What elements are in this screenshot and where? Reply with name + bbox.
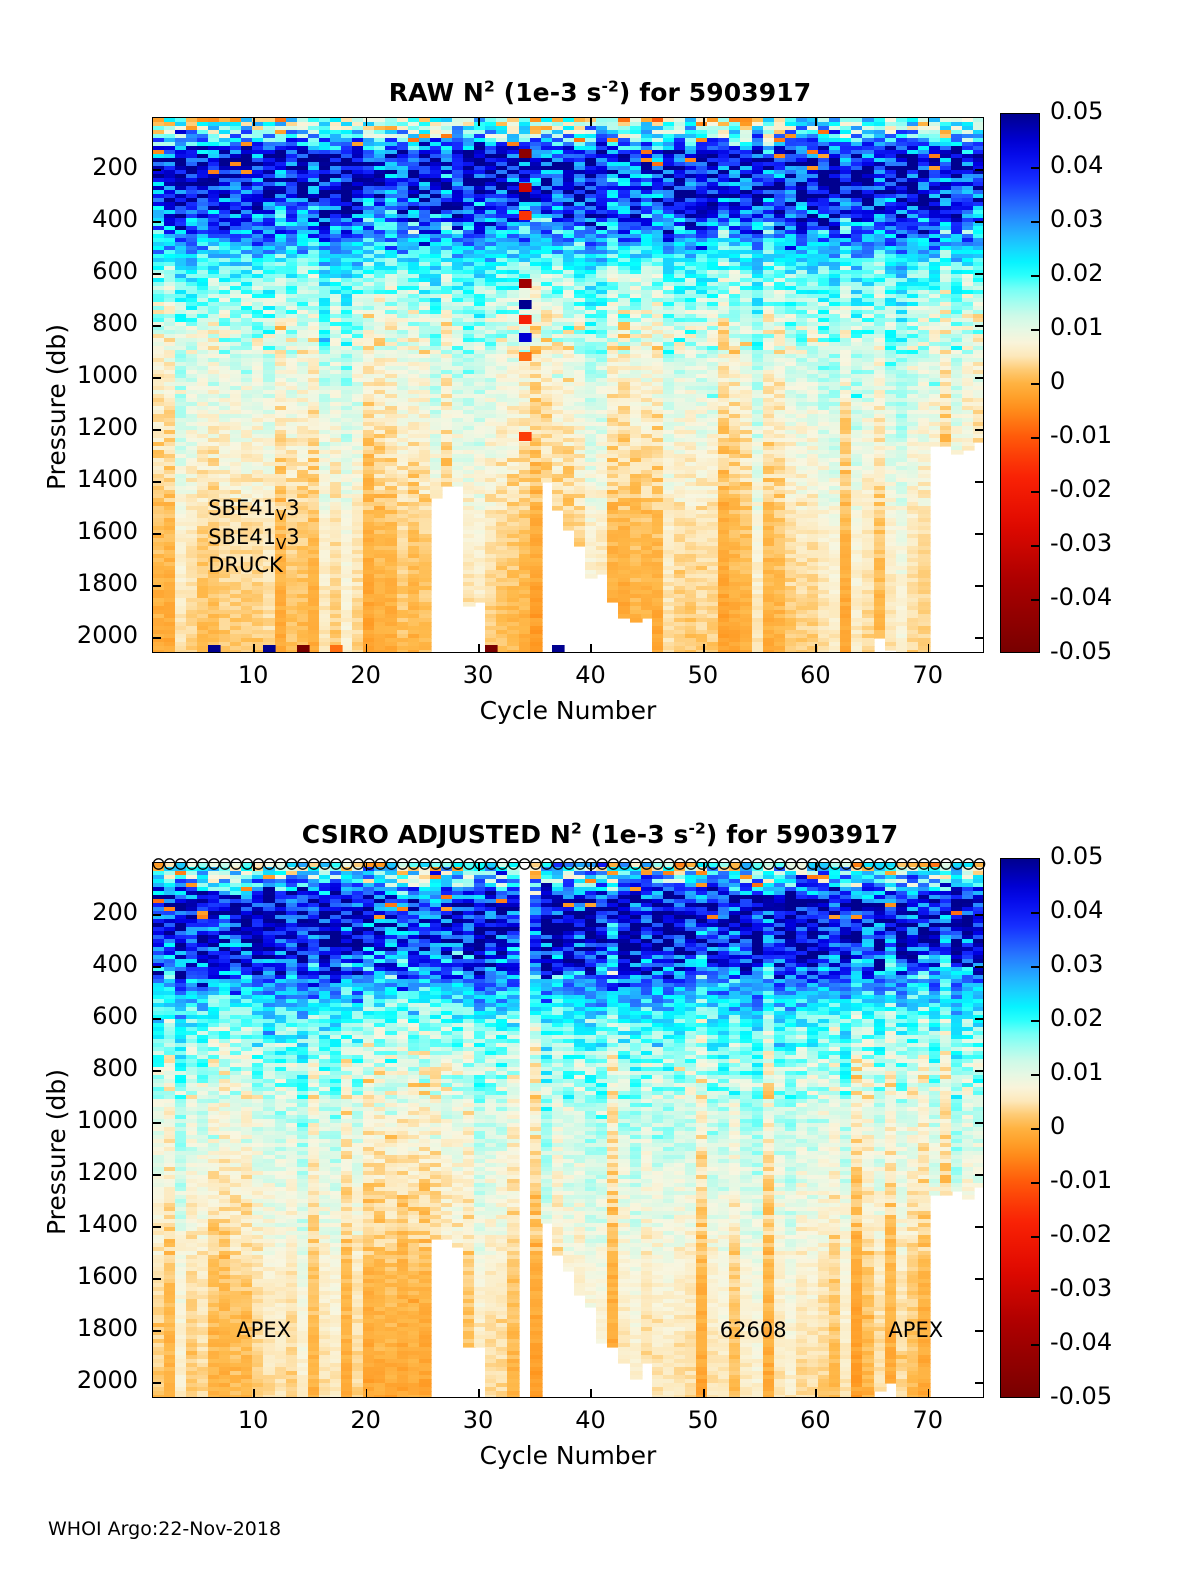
colorbar-tick-mark: [1031, 1182, 1040, 1184]
x-tick-mark: [928, 644, 930, 653]
x-tick-label-adjusted-30: 30: [438, 1406, 518, 1434]
y-tick-label-raw-1400: 1400: [0, 465, 138, 493]
colorbar-tick-label-raw-0: 0.05: [1050, 97, 1103, 125]
y-tick-label-adjusted-400: 400: [0, 950, 138, 978]
colorbar-tick-label-adjusted-3: 0.02: [1050, 1004, 1103, 1032]
x-tick-label-adjusted-70: 70: [888, 1406, 968, 1434]
y-tick-mark: [152, 377, 161, 379]
y-tick-mark: [152, 1070, 161, 1072]
panel-adjusted-title-exponent-2: -2: [688, 820, 705, 838]
x-tick-mark: [590, 862, 592, 871]
x-tick-label-raw-70: 70: [888, 661, 968, 689]
x-tick-label-raw-30: 30: [438, 661, 518, 689]
colorbar-tick-label-adjusted-1: 0.04: [1050, 896, 1103, 924]
colorbar-tick-label-adjusted-0: 0.05: [1050, 842, 1103, 870]
y-tick-mark: [152, 637, 161, 639]
x-tick-mark: [253, 117, 255, 126]
colorbar-tick-label-raw-7: -0.02: [1050, 475, 1112, 503]
y-tick-mark: [152, 585, 161, 587]
colorbar-tick-mark: [1031, 1020, 1040, 1022]
colorbar-tick-label-raw-6: -0.01: [1050, 421, 1112, 449]
colorbar-tick-label-adjusted-2: 0.03: [1050, 950, 1103, 978]
y-tick-mark: [152, 1174, 161, 1176]
x-tick-mark: [590, 644, 592, 653]
x-tick-mark: [478, 862, 480, 871]
y-tick-label-adjusted-1400: 1400: [0, 1210, 138, 1238]
colorbar-tick-label-adjusted-5: 0: [1050, 1112, 1065, 1140]
colorbar-tick-label-adjusted-9: -0.04: [1050, 1328, 1112, 1356]
y-tick-label-raw-400: 400: [0, 205, 138, 233]
colorbar-tick-label-adjusted-6: -0.01: [1050, 1166, 1112, 1194]
x-tick-mark: [366, 644, 368, 653]
panel-raw-title-exponent-1: 2: [484, 78, 495, 96]
panel-adjusted-title-mid: (1e-3 s: [582, 820, 689, 849]
y-tick-mark: [975, 221, 984, 223]
colorbar-tick-mark: [1031, 1344, 1040, 1346]
x-tick-mark: [253, 644, 255, 653]
panel-adjusted-title-prefix: CSIRO ADJUSTED N: [302, 820, 571, 849]
colorbar-tick-label-raw-3: 0.02: [1050, 259, 1103, 287]
annotation-adjusted-0: APEX: [236, 1318, 291, 1342]
x-tick-mark: [815, 644, 817, 653]
y-tick-mark: [152, 1330, 161, 1332]
y-tick-label-raw-1600: 1600: [0, 517, 138, 545]
y-tick-label-raw-200: 200: [0, 153, 138, 181]
colorbar-tick-mark: [1031, 1290, 1040, 1292]
y-tick-mark: [152, 481, 161, 483]
y-tick-mark: [975, 169, 984, 171]
colorbar-tick-label-raw-8: -0.03: [1050, 529, 1112, 557]
y-tick-label-raw-2000: 2000: [0, 621, 138, 649]
y-tick-mark: [152, 169, 161, 171]
colorbar-tick-mark: [1031, 275, 1040, 277]
colorbar-tick-label-raw-9: -0.04: [1050, 583, 1112, 611]
x-tick-label-raw-40: 40: [550, 661, 630, 689]
annotation-text: SBE41: [208, 525, 276, 549]
panel-raw-title-prefix: RAW N: [389, 78, 484, 107]
panel-raw-title-suffix: ) for 5903917: [619, 78, 811, 107]
y-tick-label-raw-1000: 1000: [0, 361, 138, 389]
x-tick-mark: [703, 1389, 705, 1398]
y-tick-label-adjusted-600: 600: [0, 1002, 138, 1030]
y-tick-label-raw-1200: 1200: [0, 413, 138, 441]
colorbar-tick-mark: [1031, 1236, 1040, 1238]
footer-credit: WHOI Argo:22-Nov-2018: [48, 1518, 281, 1540]
annotation-subscript: V: [276, 506, 286, 524]
x-tick-mark: [928, 1389, 930, 1398]
y-tick-mark: [975, 481, 984, 483]
panel-raw-title-mid: (1e-3 s: [495, 78, 602, 107]
y-tick-mark: [152, 273, 161, 275]
annotation-raw-1: SBE41V3: [208, 525, 299, 549]
colorbar-tick-mark: [1031, 221, 1040, 223]
panel-raw-title-exponent-2: -2: [602, 78, 619, 96]
panel-adjusted-title-suffix: ) for 5903917: [706, 820, 898, 849]
annotation-subscript: V: [276, 535, 286, 553]
y-tick-mark: [152, 966, 161, 968]
colorbar-tick-label-adjusted-10: -0.05: [1050, 1382, 1112, 1410]
y-tick-mark: [975, 273, 984, 275]
y-tick-label-adjusted-2000: 2000: [0, 1366, 138, 1394]
x-tick-label-raw-50: 50: [663, 661, 743, 689]
x-tick-mark: [478, 644, 480, 653]
panel-raw-title: RAW N2 (1e-3 s-2) for 5903917: [0, 78, 1200, 107]
y-tick-mark: [975, 1278, 984, 1280]
annotation-raw-0: SBE41V3: [208, 496, 299, 520]
x-tick-mark: [815, 862, 817, 871]
x-tick-mark: [703, 862, 705, 871]
annotation-adjusted-1: 62608: [720, 1318, 787, 1342]
annotation-text: APEX: [888, 1318, 943, 1342]
x-tick-mark: [253, 1389, 255, 1398]
colorbar-tick-label-adjusted-7: -0.02: [1050, 1220, 1112, 1248]
y-tick-label-raw-1800: 1800: [0, 569, 138, 597]
colorbar-tick-mark: [1031, 491, 1040, 493]
y-tick-mark: [975, 377, 984, 379]
x-tick-label-adjusted-20: 20: [326, 1406, 406, 1434]
adjusted-x-axis-label: Cycle Number: [152, 1441, 984, 1470]
y-tick-label-adjusted-1600: 1600: [0, 1262, 138, 1290]
x-tick-mark: [478, 1389, 480, 1398]
colorbar-tick-label-adjusted-4: 0.01: [1050, 1058, 1103, 1086]
x-tick-mark: [703, 644, 705, 653]
y-tick-mark: [975, 637, 984, 639]
y-tick-mark: [152, 1018, 161, 1020]
y-tick-mark: [975, 533, 984, 535]
y-tick-mark: [152, 221, 161, 223]
colorbar-tick-label-raw-1: 0.04: [1050, 151, 1103, 179]
colorbar-tick-mark: [1031, 437, 1040, 439]
x-tick-label-raw-10: 10: [213, 661, 293, 689]
panel-adjusted-title: CSIRO ADJUSTED N2 (1e-3 s-2) for 5903917: [0, 820, 1200, 849]
x-tick-mark: [253, 862, 255, 871]
annotation-adjusted-2: APEX: [888, 1318, 943, 1342]
y-tick-mark: [152, 325, 161, 327]
colorbar-tick-mark: [1031, 1074, 1040, 1076]
x-tick-label-raw-60: 60: [775, 661, 855, 689]
y-tick-label-adjusted-1200: 1200: [0, 1158, 138, 1186]
y-tick-mark: [975, 966, 984, 968]
x-tick-mark: [815, 117, 817, 126]
y-tick-mark: [152, 1226, 161, 1228]
annotation-text: 62608: [720, 1318, 787, 1342]
x-tick-mark: [928, 862, 930, 871]
colorbar-tick-label-adjusted-8: -0.03: [1050, 1274, 1112, 1302]
y-tick-mark: [975, 1122, 984, 1124]
colorbar-tick-mark: [1031, 383, 1040, 385]
y-tick-mark: [975, 325, 984, 327]
y-tick-mark: [975, 1382, 984, 1384]
annotation-raw-2: DRUCK: [208, 553, 283, 577]
y-tick-mark: [975, 1018, 984, 1020]
x-tick-mark: [703, 117, 705, 126]
y-tick-mark: [152, 914, 161, 916]
x-tick-label-adjusted-60: 60: [775, 1406, 855, 1434]
y-tick-label-adjusted-200: 200: [0, 898, 138, 926]
y-tick-mark: [152, 1122, 161, 1124]
x-tick-label-adjusted-50: 50: [663, 1406, 743, 1434]
x-tick-mark: [366, 862, 368, 871]
colorbar-tick-label-raw-4: 0.01: [1050, 313, 1103, 341]
colorbar-tick-label-raw-5: 0: [1050, 367, 1065, 395]
y-tick-mark: [152, 533, 161, 535]
annotation-text-post: 3: [286, 496, 299, 520]
y-tick-mark: [152, 429, 161, 431]
x-tick-label-adjusted-10: 10: [213, 1406, 293, 1434]
y-tick-mark: [975, 1226, 984, 1228]
raw-x-axis-label: Cycle Number: [152, 696, 984, 725]
x-tick-mark: [590, 117, 592, 126]
y-tick-mark: [975, 914, 984, 916]
y-tick-mark: [975, 585, 984, 587]
colorbar-tick-mark: [1031, 599, 1040, 601]
x-tick-mark: [366, 117, 368, 126]
annotation-text-post: 3: [286, 525, 299, 549]
x-tick-mark: [590, 1389, 592, 1398]
y-tick-label-raw-600: 600: [0, 257, 138, 285]
y-tick-label-adjusted-800: 800: [0, 1054, 138, 1082]
colorbar-tick-mark: [1031, 966, 1040, 968]
colorbar-tick-mark: [1031, 1128, 1040, 1130]
x-tick-mark: [928, 117, 930, 126]
colorbar-tick-mark: [1031, 545, 1040, 547]
x-tick-label-adjusted-40: 40: [550, 1406, 630, 1434]
colorbar-tick-mark: [1031, 167, 1040, 169]
y-tick-mark: [975, 1070, 984, 1072]
colorbar-tick-label-raw-2: 0.03: [1050, 205, 1103, 233]
panel-adjusted-title-exponent-1: 2: [571, 820, 582, 838]
x-tick-mark: [366, 1389, 368, 1398]
y-tick-mark: [152, 1278, 161, 1280]
x-tick-mark: [478, 117, 480, 126]
annotation-text: DRUCK: [208, 553, 283, 577]
colorbar-tick-mark: [1031, 329, 1040, 331]
y-tick-label-adjusted-1000: 1000: [0, 1106, 138, 1134]
y-tick-mark: [152, 1382, 161, 1384]
annotation-text: APEX: [236, 1318, 291, 1342]
colorbar-tick-label-raw-10: -0.05: [1050, 637, 1112, 665]
annotation-text: SBE41: [208, 496, 276, 520]
y-tick-label-adjusted-1800: 1800: [0, 1314, 138, 1342]
colorbar-tick-mark: [1031, 912, 1040, 914]
y-tick-mark: [975, 1330, 984, 1332]
y-tick-mark: [975, 1174, 984, 1176]
y-tick-mark: [975, 429, 984, 431]
x-tick-mark: [815, 1389, 817, 1398]
y-tick-label-raw-800: 800: [0, 309, 138, 337]
x-tick-label-raw-20: 20: [326, 661, 406, 689]
